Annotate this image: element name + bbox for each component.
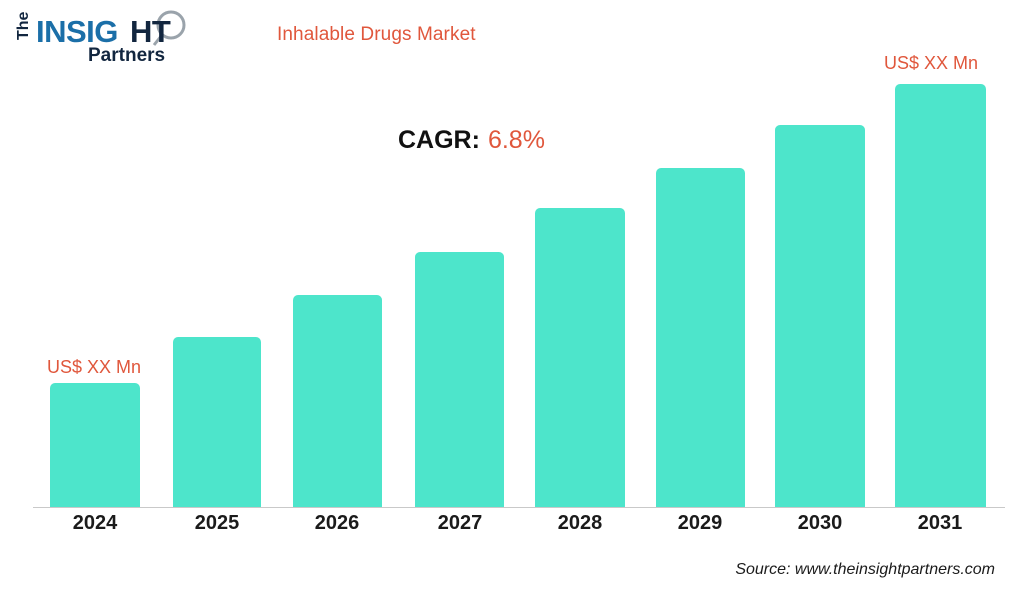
x-tick-2025: 2025 [167, 512, 267, 535]
chart-page: The INSIG HT Partners Inhalable Drugs Ma… [0, 0, 1027, 591]
x-tick-2027: 2027 [410, 512, 510, 535]
x-tick-2026: 2026 [287, 512, 387, 535]
bar-2025 [173, 337, 261, 507]
x-tick-2028: 2028 [530, 512, 630, 535]
x-tick-2029: 2029 [650, 512, 750, 535]
bar-2031 [895, 84, 986, 507]
bar-2028 [535, 208, 625, 507]
x-tick-2031: 2031 [890, 512, 990, 535]
bar-2029 [656, 168, 745, 507]
bar-2026 [293, 295, 382, 507]
x-tick-2030: 2030 [770, 512, 870, 535]
x-tick-2024: 2024 [45, 512, 145, 535]
bar-chart-plot-area: 2024 2025 2026 2027 2028 2029 2030 2031 … [0, 0, 1027, 591]
first-bar-value-label: US$ XX Mn [47, 357, 141, 378]
bar-2024 [50, 383, 140, 507]
last-bar-value-label: US$ XX Mn [884, 53, 978, 74]
bar-2030 [775, 125, 865, 507]
x-axis-line [33, 507, 1005, 508]
source-attribution: Source: www.theinsightpartners.com [735, 561, 995, 579]
bar-2027 [415, 252, 504, 507]
